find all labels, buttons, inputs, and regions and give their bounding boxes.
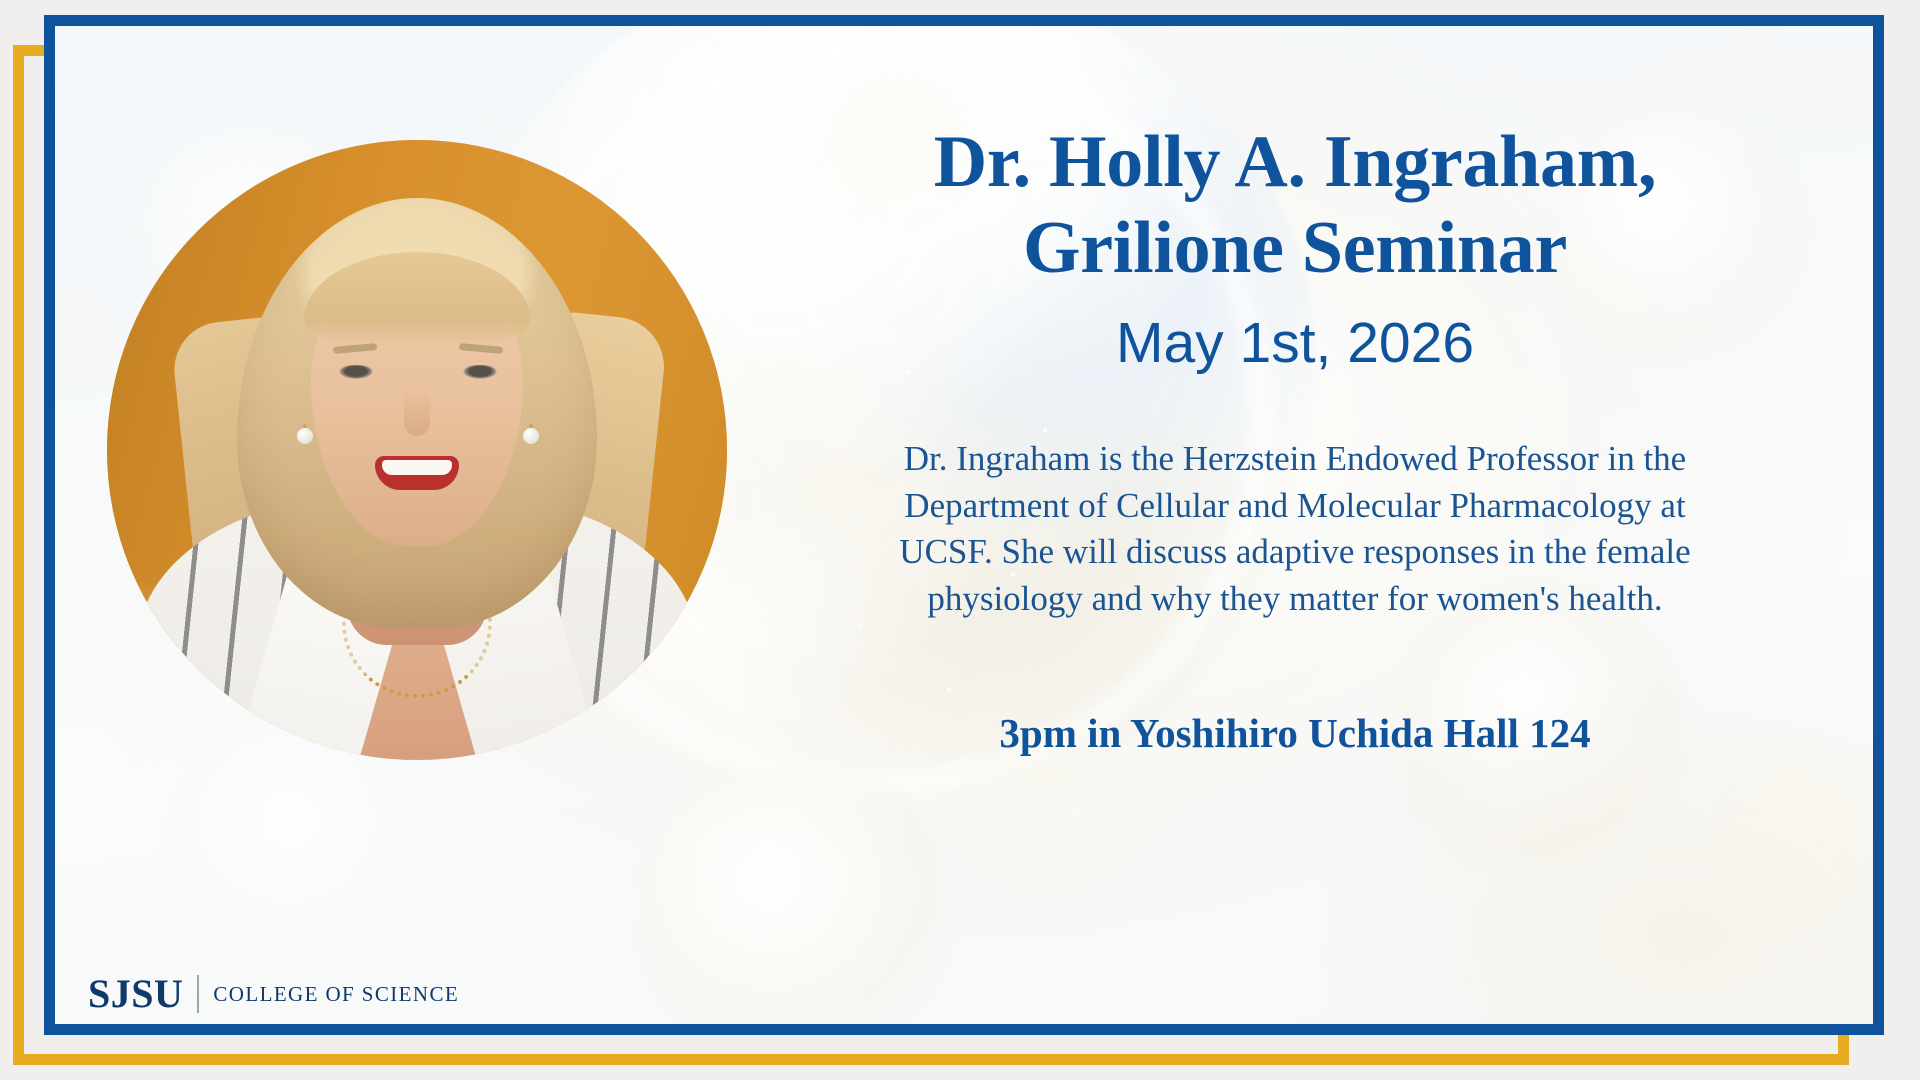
seminar-title: Dr. Holly A. Ingraham, Grilione Seminar (790, 120, 1800, 292)
speaker-description: Dr. Ingraham is the Herzstein Endowed Pr… (815, 436, 1775, 622)
mouth (375, 456, 459, 490)
title-line-2: Grilione Seminar (790, 206, 1800, 292)
description-line: UCSF. She will discuss adaptive response… (815, 529, 1775, 576)
speaker-portrait (107, 140, 727, 760)
pearl-earring-right (523, 428, 539, 444)
logo-divider-rule (197, 975, 199, 1013)
flyer-text-column: Dr. Holly A. Ingraham, Grilione Seminar … (790, 120, 1800, 757)
sjsu-wordmark: SJSU (88, 974, 183, 1014)
portrait-circle-mask (107, 140, 727, 760)
seminar-time-and-location: 3pm in Yoshihiro Uchida Hall 124 (790, 709, 1800, 757)
teeth (382, 460, 452, 475)
eye-right (463, 365, 497, 379)
seminar-flyer: Dr. Holly A. Ingraham, Grilione Seminar … (0, 0, 1920, 1080)
description-line: physiology and why they matter for women… (815, 576, 1775, 623)
logo-unit-name: College of Science (213, 984, 459, 1005)
nose (404, 390, 430, 436)
seminar-date: May 1st, 2026 (790, 312, 1800, 375)
eye-left (339, 365, 373, 379)
title-line-1: Dr. Holly A. Ingraham, (790, 120, 1800, 206)
pearl-earring-left (297, 428, 313, 444)
description-line: Dr. Ingraham is the Herzstein Endowed Pr… (815, 436, 1775, 483)
sjsu-college-of-science-logo: SJSU College of Science (88, 974, 459, 1014)
description-line: Department of Cellular and Molecular Pha… (815, 483, 1775, 530)
